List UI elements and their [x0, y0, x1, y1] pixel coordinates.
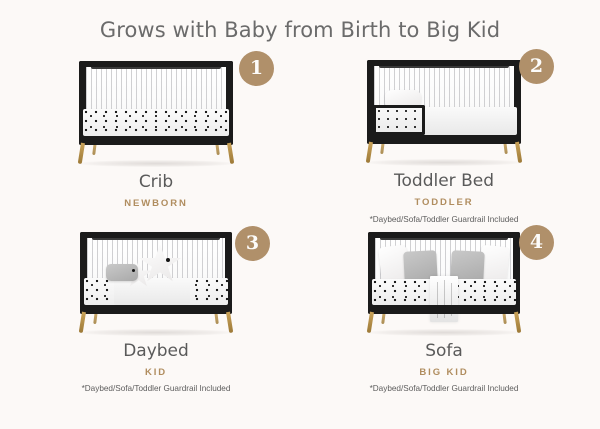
leg-front-right-icon — [226, 312, 233, 333]
top-rail — [80, 232, 232, 238]
daybed-art — [72, 226, 240, 336]
pillow-gray-button — [132, 269, 135, 272]
center-sheet — [114, 278, 190, 305]
bottom-rail — [368, 305, 520, 314]
stage-card-daybed[interactable]: 3 — [12, 224, 300, 414]
bottom-rail — [79, 136, 233, 145]
guardrail-mesh — [376, 108, 422, 132]
stage-card-toddler-bed[interactable]: 2 — [300, 49, 588, 224]
stage-name-daybed: Daybed — [123, 343, 189, 361]
star-pillow-eye — [166, 258, 170, 262]
pillow-gray — [106, 264, 138, 281]
toddler-guardrail — [373, 105, 425, 135]
pillow-white — [385, 90, 421, 106]
stage-badge-3: 3 — [235, 226, 270, 261]
sofa-art — [360, 226, 528, 336]
stage-badge-1: 1 — [239, 51, 274, 86]
stage-card-crib[interactable]: 1 Crib NEWBORN — [12, 49, 300, 224]
leg-front-left-icon — [78, 143, 85, 164]
stage-badge-2: 2 — [519, 49, 554, 84]
stage-badge-4: 4 — [519, 225, 554, 260]
page-title: Grows with Baby from Birth to Big Kid — [0, 0, 600, 41]
floor-shadow — [79, 329, 234, 336]
bottom-rail — [80, 305, 232, 314]
floor-shadow — [78, 160, 234, 167]
toddler-bed-frame — [367, 60, 521, 144]
top-rail — [368, 232, 520, 238]
dotted-mattress — [83, 109, 229, 136]
stage-age-sofa: BIG KID — [419, 368, 468, 378]
stage-age-crib: NEWBORN — [124, 199, 187, 209]
stage-name-toddler-bed: Toddler Bed — [394, 173, 494, 191]
sofa-frame — [368, 232, 520, 314]
crib-frame — [79, 61, 233, 145]
floor-shadow — [367, 329, 522, 336]
stage-name-sofa: Sofa — [425, 343, 463, 361]
stage-age-toddler-bed: TODDLER — [414, 198, 473, 208]
toddler-bed-art — [359, 54, 529, 166]
crib-art — [71, 55, 241, 167]
stage-name-crib: Crib — [139, 174, 173, 192]
daybed-frame — [80, 232, 232, 314]
stage-note-toddler-bed: *Daybed/Sofa/Toddler Guardrail Included — [370, 216, 519, 224]
page-root: { "header": { "title": "Grows with Baby … — [0, 0, 600, 429]
stage-note-sofa: *Daybed/Sofa/Toddler Guardrail Included — [370, 385, 519, 393]
leg-front-left-icon — [367, 312, 374, 333]
leg-front-left-icon — [79, 312, 86, 333]
stage-note-daybed: *Daybed/Sofa/Toddler Guardrail Included — [82, 385, 231, 393]
leg-front-right-icon — [227, 143, 234, 164]
stage-card-sofa[interactable]: 4 — [300, 224, 588, 414]
leg-front-right-icon — [514, 312, 521, 333]
top-rail — [79, 61, 233, 67]
floor-shadow — [366, 159, 522, 166]
plain-mattress — [419, 107, 517, 135]
stage-grid: 1 Crib NEWBORN — [0, 49, 600, 414]
bottom-rail — [367, 135, 521, 144]
stage-age-daybed: KID — [145, 368, 167, 378]
top-rail — [367, 60, 521, 66]
